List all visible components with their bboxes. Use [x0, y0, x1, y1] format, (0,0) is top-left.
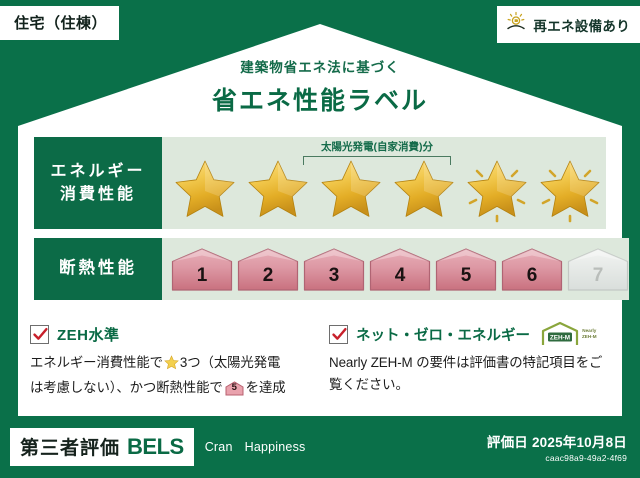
net-zero-title: ネット・ゼロ・エネルギー — [356, 324, 530, 345]
property-name-second: Happiness — [245, 440, 306, 454]
renewable-equipment-badge: 再エネ設備あり — [497, 6, 640, 43]
renewable-badge-label: 再エネ設備あり — [533, 15, 630, 35]
net-zero-checkbox — [329, 325, 348, 344]
insulation-badge-number: 2 — [237, 265, 299, 287]
evaluation-date: 評価日 2025年10月8日 — [487, 431, 627, 451]
evaluation-uid: caac98a9-49a2-4f69 — [487, 453, 627, 463]
insulation-performance-label: 断熱性能 — [34, 238, 162, 300]
insulation-badge-5: 5 — [435, 247, 497, 291]
label-title-block: 建築物省エネ法に基づく 省エネ性能ラベル — [0, 56, 640, 117]
building-type-tag: 住宅（住棟） — [0, 6, 119, 40]
page-title: 省エネ性能ラベル — [0, 81, 640, 117]
star-5 — [462, 155, 532, 225]
zeh-desc-part1: エネルギー消費性能で — [30, 355, 163, 370]
inline-house-grade-icon: 5 — [225, 381, 244, 396]
inline-house-grade-number: 5 — [225, 380, 244, 395]
net-zero-energy-block: ネット・ゼロ・エネルギー ZEH-M Nearly ZEH-M Nearly Z… — [329, 322, 610, 398]
certification-notes: ZEH水準 エネルギー消費性能で3つ（太陽光発電 は考慮しない）、かつ断熱性能で… — [30, 322, 610, 398]
zeh-desc-star-count: 3つ（太陽光発電 — [180, 355, 280, 370]
energy-performance-body: 太陽光発電(自家消費)分 — [162, 137, 606, 229]
insulation-badge-number: 5 — [435, 265, 497, 287]
bels-certification-box: 第三者評価 BELS — [10, 428, 194, 466]
insulation-badge-number: 3 — [303, 265, 365, 287]
star-3 — [316, 155, 386, 225]
insulation-badge-number: 4 — [369, 265, 431, 287]
insulation-badge-7: 7 — [567, 247, 629, 291]
insulation-grade-badges: 1234567 — [162, 247, 629, 291]
insulation-badge-4: 4 — [369, 247, 431, 291]
star-1 — [170, 155, 240, 225]
zeh-standard-checkbox — [30, 325, 49, 344]
insulation-badge-2: 2 — [237, 247, 299, 291]
insulation-performance-row: 断熱性能 1234567 — [34, 238, 606, 300]
svg-text:ZEH-M: ZEH-M — [550, 334, 570, 341]
label-footer: 第三者評価 BELS Cran Happiness 評価日 2025年10月8日… — [0, 416, 640, 478]
energy-star-rating — [162, 141, 605, 225]
zeh-standard-block: ZEH水準 エネルギー消費性能で3つ（太陽光発電 は考慮しない）、かつ断熱性能で… — [30, 322, 311, 398]
zeh-m-logo-subtext: Nearly ZEH-M — [582, 328, 597, 339]
zeh-desc-part2: は考慮しない）、かつ断熱性能で — [30, 380, 223, 395]
bels-logo-text: BELS — [127, 434, 184, 460]
energy-label-line1: エネルギー — [50, 160, 145, 183]
zeh-m-sub-line2: ZEH-M — [582, 334, 597, 339]
net-zero-heading: ネット・ゼロ・エネルギー ZEH-M Nearly ZEH-M — [329, 322, 610, 346]
third-party-eval-label: 第三者評価 — [20, 433, 120, 460]
property-name: Cran Happiness — [205, 440, 306, 454]
zeh-m-logo: ZEH-M Nearly ZEH-M — [540, 321, 597, 347]
insulation-badge-3: 3 — [303, 247, 365, 291]
zeh-m-sub-line1: Nearly — [582, 328, 596, 333]
energy-performance-row: エネルギー 消費性能 太陽光発電(自家消費)分 — [34, 137, 606, 229]
insulation-badge-number: 6 — [501, 265, 563, 287]
inline-star-icon — [164, 355, 179, 377]
zeh-standard-title: ZEH水準 — [57, 324, 120, 345]
zeh-standard-heading: ZEH水準 — [30, 322, 311, 346]
star-6 — [535, 155, 605, 225]
insulation-badge-1: 1 — [171, 247, 233, 291]
star-2 — [243, 155, 313, 225]
insulation-performance-body: 1234567 — [162, 238, 629, 300]
zeh-desc-part3: を達成 — [246, 380, 286, 395]
net-zero-description: Nearly ZEH-M の要件は評価書の特記項目をご覧ください。 — [329, 352, 610, 395]
energy-label-line2: 消費性能 — [60, 183, 136, 206]
sun-renewable-icon — [505, 11, 527, 38]
evaluation-meta: 評価日 2025年10月8日 caac98a9-49a2-4f69 — [487, 431, 627, 463]
insulation-badge-number: 1 — [171, 265, 233, 287]
property-name-first: Cran — [205, 440, 233, 454]
energy-performance-label: エネルギー 消費性能 — [34, 137, 162, 229]
title-subtitle: 建築物省エネ法に基づく — [0, 56, 640, 76]
insulation-badge-number: 7 — [567, 265, 629, 287]
star-4 — [389, 155, 459, 225]
zeh-standard-description: エネルギー消費性能で3つ（太陽光発電 は考慮しない）、かつ断熱性能で5を達成 — [30, 352, 311, 398]
performance-rows: エネルギー 消費性能 太陽光発電(自家消費)分 断熱性能 1234567 — [34, 137, 606, 300]
insulation-badge-6: 6 — [501, 247, 563, 291]
